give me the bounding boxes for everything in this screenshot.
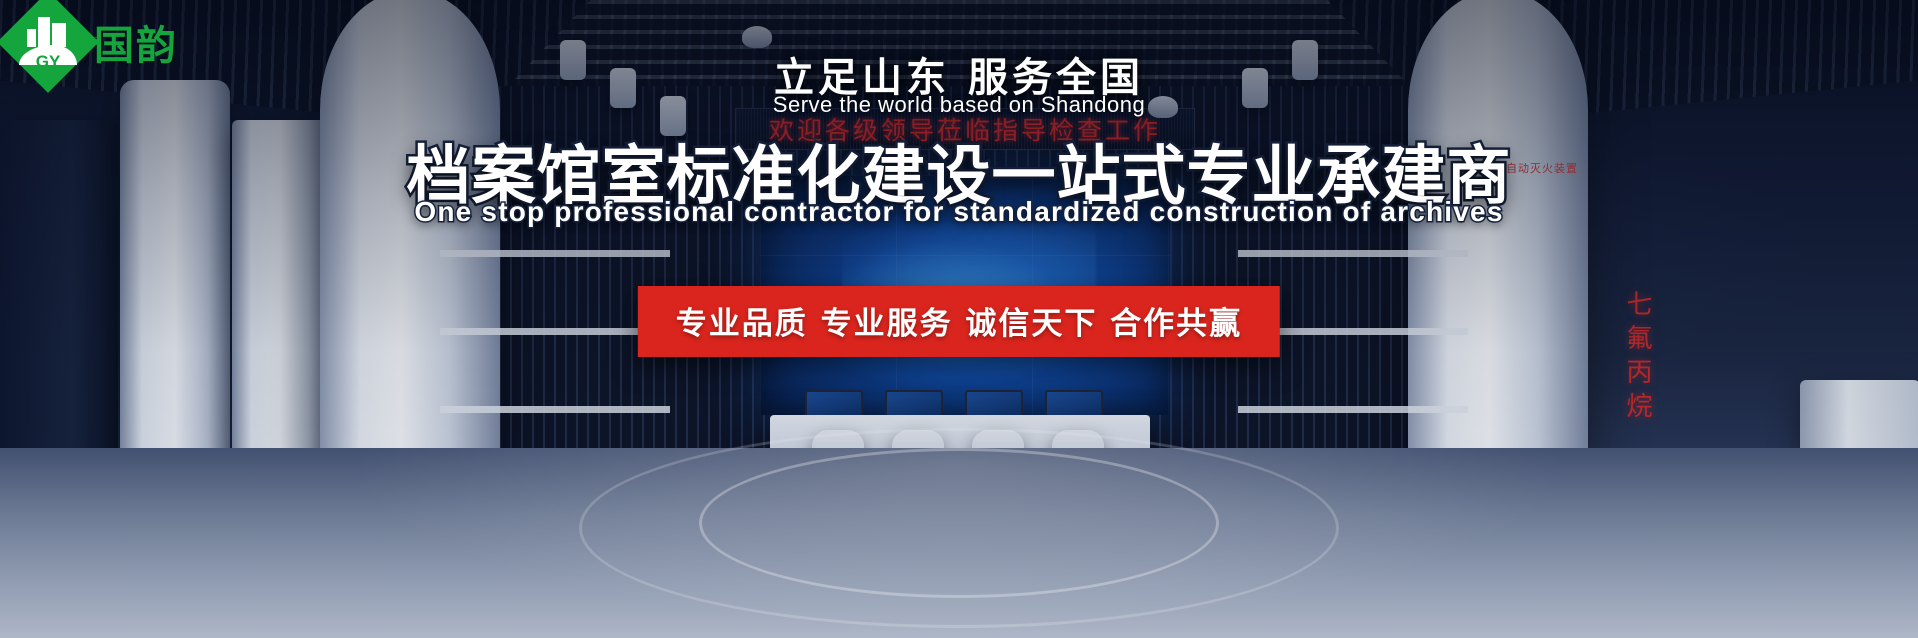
hero-banner: 欢迎各级领导莅临指导检查工作 柜式气体自动灭火装置 七氟丙烷 xyxy=(0,0,1918,638)
logo-building-shape xyxy=(52,23,66,47)
hero-content: 立足山东 服务全国 Serve the world based on Shand… xyxy=(0,0,1918,638)
hero-subheadline: One stop professional contractor for sta… xyxy=(0,196,1918,228)
logo-building-shape xyxy=(27,29,36,47)
company-name: 国韵 xyxy=(94,13,178,71)
logo-mark-text: GY xyxy=(17,52,79,72)
company-logo[interactable]: GY ® 国韵 xyxy=(12,6,178,78)
registered-trademark-icon: ® xyxy=(92,36,100,48)
tagline-english: Serve the world based on Shandong xyxy=(0,92,1918,118)
slogan-bar: 专业品质 专业服务 诚信天下 合作共赢 xyxy=(638,286,1280,357)
slogan-text: 专业品质 专业服务 诚信天下 合作共赢 xyxy=(676,298,1242,343)
logo-building-shape xyxy=(38,17,50,47)
